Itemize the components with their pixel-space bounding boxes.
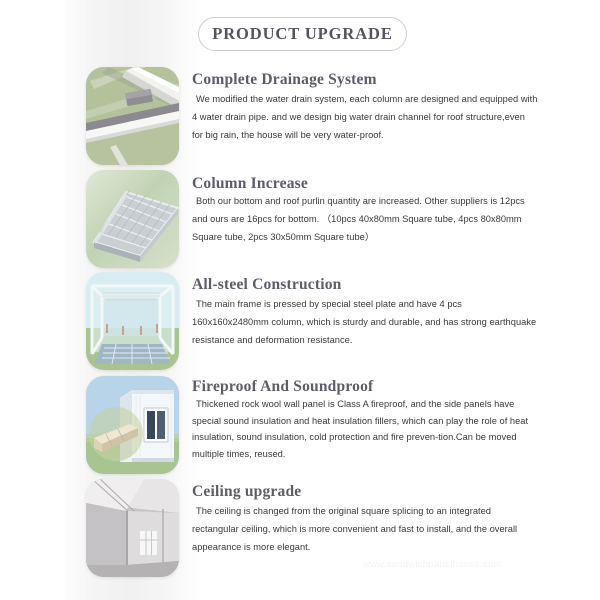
feature-copy: Fireproof And Soundproof Thickened rock … <box>192 377 538 463</box>
feature-copy: Ceiling upgrade The ceiling is changed f… <box>192 482 538 557</box>
feature-title: All-steel Construction <box>192 275 538 294</box>
feature-body: The ceiling is changed from the original… <box>192 503 538 557</box>
feature-copy: Complete Drainage System We modified the… <box>192 70 538 145</box>
steel-purlin-floor-frame-photo <box>86 170 179 268</box>
feature-body: We modified the water drain system, each… <box>192 91 538 145</box>
feature-title: Fireproof And Soundproof <box>192 377 538 396</box>
feature-copy: Column Increase Both our bottom and roof… <box>192 174 538 247</box>
site-watermark: www.sandwichpanelhouse.com <box>363 559 502 570</box>
integrated-ceiling-interior-photo <box>86 479 179 577</box>
roof-drain-gutter-photo <box>86 67 179 165</box>
page-title-pill: PRODUCT UPGRADE <box>198 17 407 51</box>
feature-title: Ceiling upgrade <box>192 482 538 501</box>
feature-body: Both our bottom and roof purlin quantity… <box>192 193 538 247</box>
product-upgrade-infographic: PRODUCT UPGRADE <box>0 0 600 600</box>
rock-wool-panel-house-photo <box>86 376 179 474</box>
feature-body: The main frame is pressed by special ste… <box>192 296 538 350</box>
steel-frame-container-interior-photo <box>86 272 179 370</box>
page-title: PRODUCT UPGRADE <box>212 24 393 44</box>
feature-body: Thickened rock wool wall panel is Class … <box>192 396 538 462</box>
feature-title: Complete Drainage System <box>192 70 538 89</box>
feature-title: Column Increase <box>192 174 538 193</box>
feature-copy: All-steel Construction The main frame is… <box>192 275 538 350</box>
